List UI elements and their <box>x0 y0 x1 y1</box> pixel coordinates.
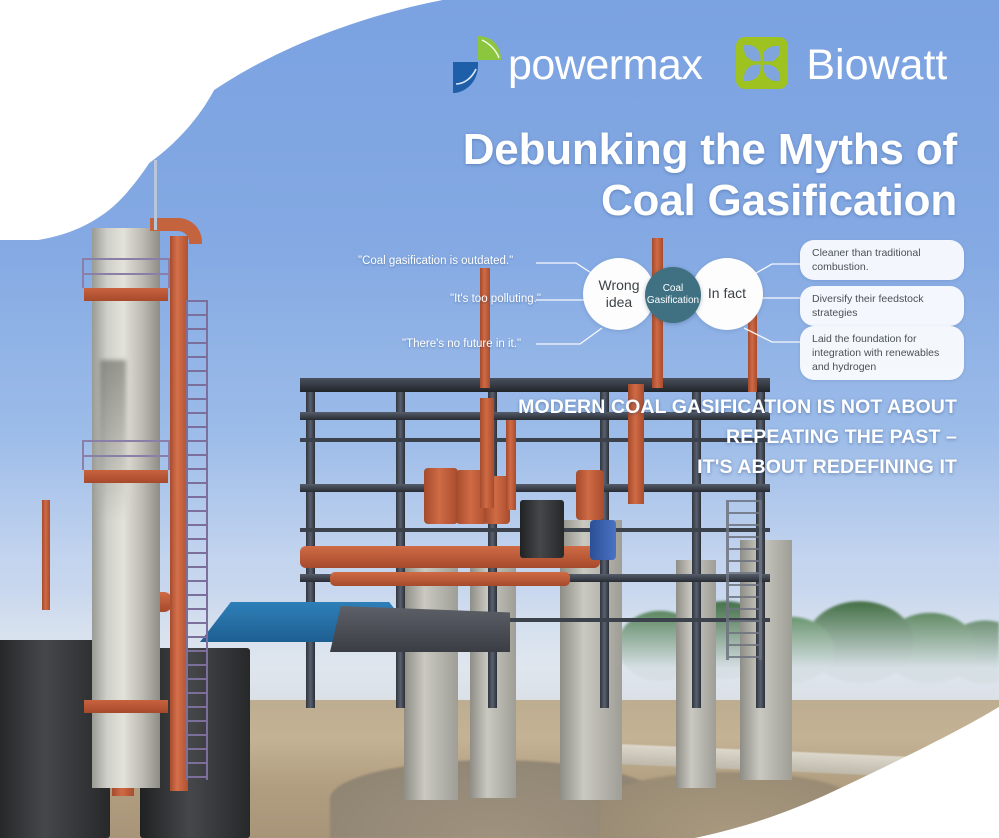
tagline-line-3: IT'S ABOUT REDEFINING IT <box>357 452 957 482</box>
headline-line-2: Coal Gasification <box>337 175 957 226</box>
tagline-line-2: REPEATING THE PAST – <box>357 422 957 452</box>
powermax-logo[interactable]: powermax <box>452 34 702 96</box>
tagline-line-1: MODERN COAL GASIFICATION IS NOT ABOUT <box>357 392 957 422</box>
wrong-idea-label-line1: Wrong <box>599 277 640 294</box>
biowatt-leaf-square-icon <box>736 37 788 94</box>
small-stack-d <box>42 500 50 610</box>
in-fact-label: In fact <box>708 285 746 302</box>
fact-card-2: Diversify their feedstock strategies <box>800 286 964 326</box>
dark-vessel <box>520 500 564 558</box>
myth-statement-2: "It's too polluting." <box>450 293 541 307</box>
tower-cage-ladder <box>186 300 208 780</box>
tower-band <box>84 700 168 713</box>
dark-canopy <box>330 606 510 652</box>
fact-card-1: Cleaner than traditional combustion. <box>800 240 964 280</box>
page-title: Debunking the Myths of Coal Gasification <box>337 124 957 226</box>
headline-line-1: Debunking the Myths of <box>337 124 957 175</box>
wrong-idea-label-line2: idea <box>599 294 640 311</box>
blue-motor <box>590 520 616 560</box>
powermax-wordmark: powermax <box>508 44 702 87</box>
fact-card-3: Laid the foundation for integration with… <box>800 326 964 380</box>
biowatt-wordmark: Biowatt <box>806 44 947 87</box>
steel-column <box>306 378 315 708</box>
poster-canvas: powermax Biowatt Debunking the Myths of … <box>0 0 999 838</box>
core-label-line1: Coal <box>647 283 699 295</box>
logo-bar: powermax Biowatt <box>452 34 947 96</box>
myths-vs-facts-diagram: "Coal gasification is outdated." "It's t… <box>340 236 980 381</box>
white-swoosh-bottom-right <box>600 700 999 838</box>
tower-platform-railing <box>82 258 170 288</box>
myth-statement-3: "There's no future in it." <box>402 338 521 352</box>
tower-platform-railing <box>82 440 170 470</box>
in-fact-circle: In fact <box>691 258 763 330</box>
lattice-pylon <box>726 500 762 660</box>
tagline: MODERN COAL GASIFICATION IS NOT ABOUT RE… <box>357 392 957 483</box>
tower-band <box>84 470 168 483</box>
core-label-line2: Gasification <box>647 295 699 307</box>
coal-gasification-core-circle: Coal Gasification <box>645 267 701 323</box>
orange-header-pipe <box>330 572 570 586</box>
steel-beam <box>300 484 770 492</box>
powermax-leaf-mark-icon <box>452 34 502 96</box>
myth-statement-1: "Coal gasification is outdated." <box>358 255 513 269</box>
biowatt-logo[interactable]: Biowatt <box>736 37 947 94</box>
tower-band <box>84 288 168 301</box>
